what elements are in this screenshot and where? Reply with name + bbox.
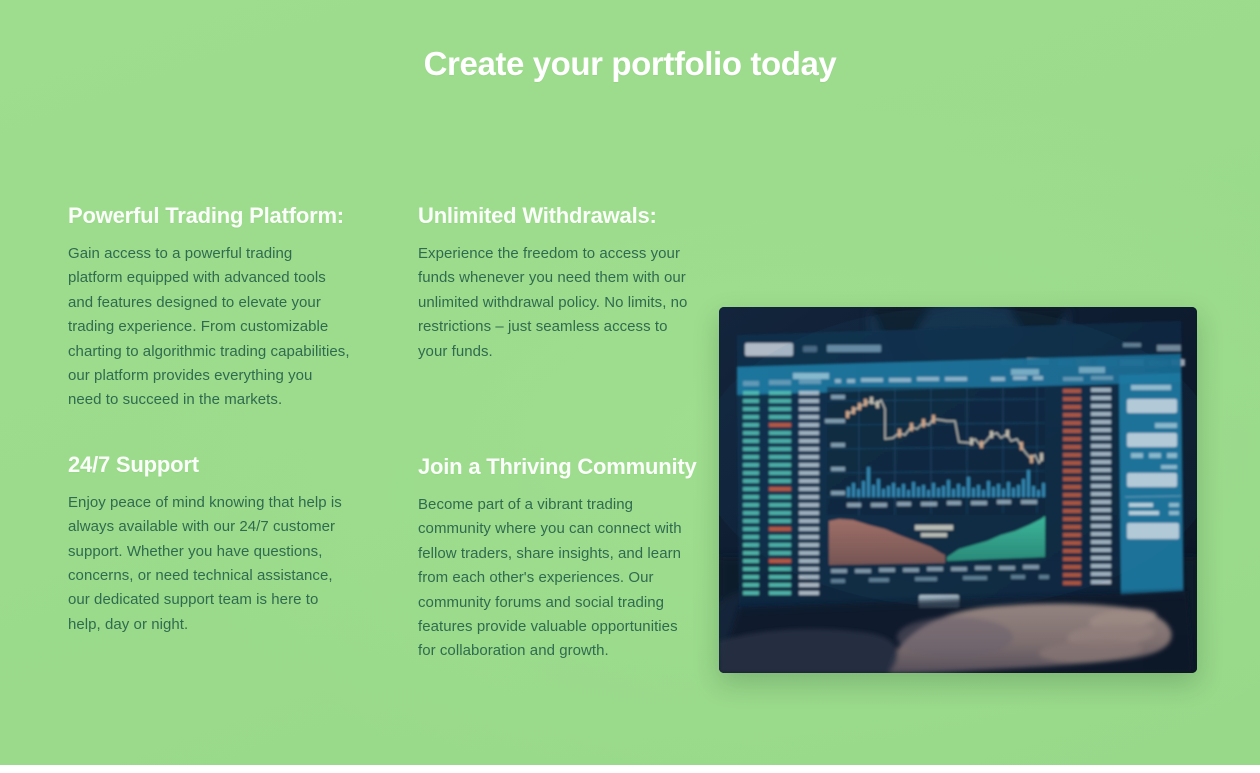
feature-block-powerful-trading-platform: Powerful Trading Platform: Gain access t… <box>68 203 353 413</box>
footer-white-strip <box>0 765 1260 773</box>
trading-dashboard-photo <box>719 307 1197 673</box>
feature-title: 24/7 Support <box>68 452 353 478</box>
feature-body: Become part of a vibrant trading communi… <box>418 493 696 664</box>
page-root: Create your portfolio today Powerful Tra… <box>0 0 1260 773</box>
feature-block-24-7-support: 24/7 Support Enjoy peace of mind knowing… <box>68 452 353 637</box>
feature-body: Gain access to a powerful trading platfo… <box>68 242 350 413</box>
feature-title: Join a Thriving Community <box>418 454 703 480</box>
feature-body: Experience the freedom to access your fu… <box>418 242 696 364</box>
feature-title: Powerful Trading Platform: <box>68 203 353 229</box>
feature-block-join-a-thriving-community: Join a Thriving Community Become part of… <box>418 454 703 664</box>
feature-body: Enjoy peace of mind knowing that help is… <box>68 491 350 637</box>
feature-block-unlimited-withdrawals: Unlimited Withdrawals: Experience the fr… <box>418 203 703 364</box>
page-title: Create your portfolio today <box>0 42 1260 86</box>
feature-column-right: Unlimited Withdrawals: Experience the fr… <box>418 203 703 664</box>
feature-column-left: Powerful Trading Platform: Gain access t… <box>68 203 353 637</box>
feature-title: Unlimited Withdrawals: <box>418 203 703 229</box>
portfolio-hero-section: Create your portfolio today Powerful Tra… <box>0 0 1260 765</box>
